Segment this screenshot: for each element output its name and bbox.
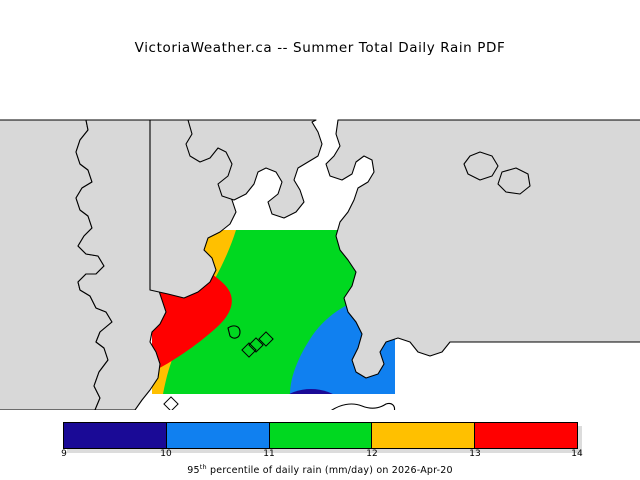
colorbar-tick-0: 9 [61, 449, 67, 459]
colorbar-band-10-11[interactable] [166, 423, 269, 448]
colorbar-tick-4: 13 [469, 449, 480, 459]
colorbar-tick-5: 14 [571, 449, 582, 459]
map-svg [0, 60, 640, 410]
colorbar-tick-2: 11 [263, 449, 274, 459]
map-canvas[interactable] [0, 60, 640, 410]
colorbar-band-9-10[interactable] [64, 423, 166, 448]
colorbar-tick-1: 10 [160, 449, 171, 459]
weather-map-page: VictoriaWeather.ca -- Summer Total Daily… [0, 0, 640, 480]
colorbar-tick-labels: 9 10 11 12 13 14 [63, 449, 578, 463]
colorbar-tick-3: 12 [366, 449, 377, 459]
caption-prefix: 95 [187, 465, 200, 476]
colorbar-legend: 9 10 11 12 13 14 95th percentile of dail… [0, 410, 640, 480]
colorbar-caption: 95th percentile of daily rain (mm/day) o… [0, 463, 640, 476]
page-title: VictoriaWeather.ca -- Summer Total Daily… [0, 40, 640, 56]
caption-superscript: th [200, 463, 207, 471]
caption-suffix: percentile of daily rain (mm/day) on 202… [207, 465, 453, 476]
colorbar-band-11-12[interactable] [269, 423, 372, 448]
colorbar-band-12-13[interactable] [371, 423, 474, 448]
colorbar-band-13-14[interactable] [474, 423, 577, 448]
colorbar-bands[interactable] [63, 422, 578, 449]
